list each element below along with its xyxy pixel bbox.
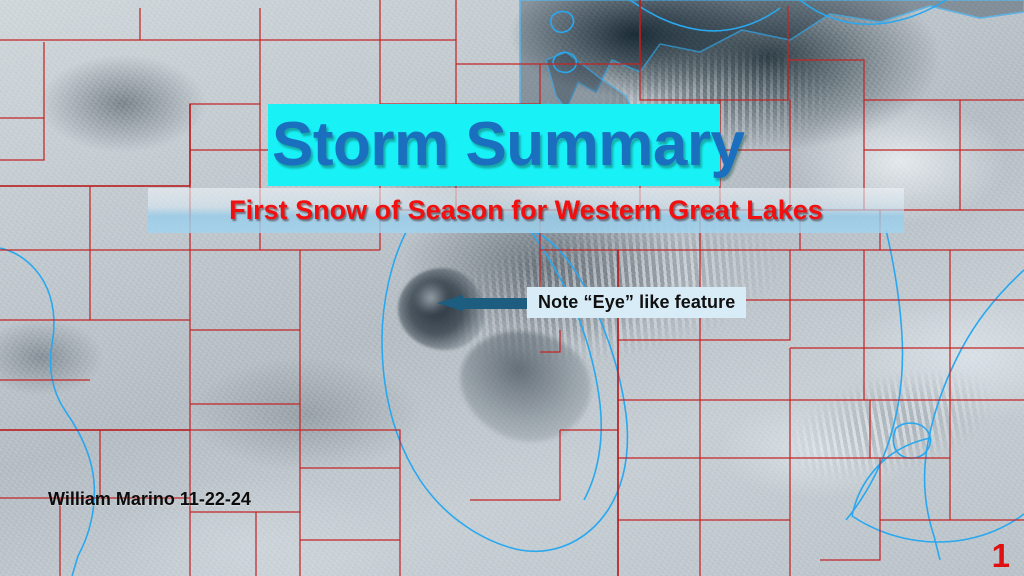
arrow-head (437, 295, 463, 311)
page-number: 1 (992, 539, 1010, 572)
tributary-river-east (852, 438, 930, 516)
arrow-shaft (461, 298, 533, 309)
page-title: Storm Summary (272, 104, 742, 186)
lake-michigan-east-shore (530, 230, 601, 500)
wisconsin-river (846, 230, 903, 520)
storm-summary-slide: Storm Summary First Snow of Season for W… (0, 0, 1024, 576)
illinois-river (925, 270, 1024, 560)
lake-michigan-outline (382, 230, 627, 551)
author-credit: William Marino 11-22-24 (48, 489, 251, 510)
eye-feature-callout: Note “Eye” like feature (527, 287, 746, 318)
mississippi-river (0, 248, 94, 576)
left-arrow-icon (437, 295, 533, 311)
page-subtitle: First Snow of Season for Western Great L… (148, 188, 904, 233)
small-lake-outline (893, 423, 930, 458)
